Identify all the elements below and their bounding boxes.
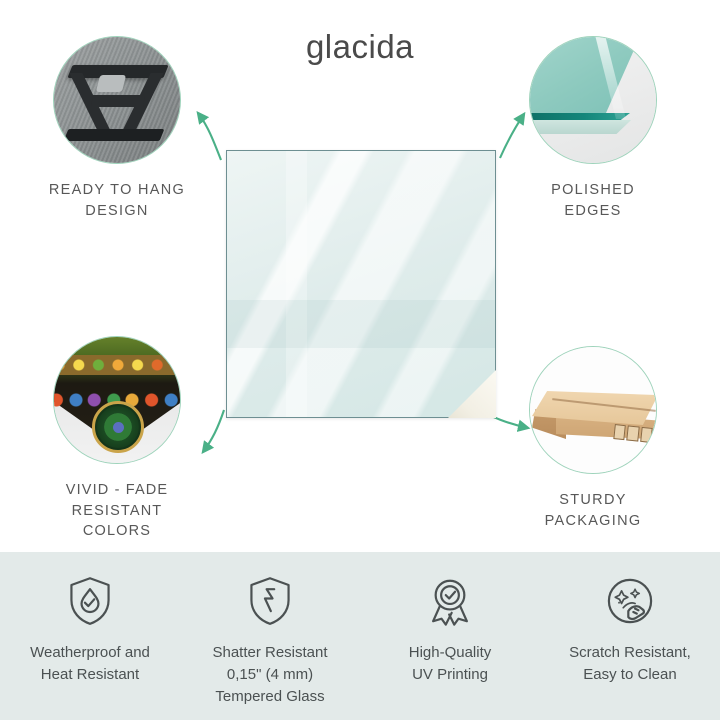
feature-scratch-resistant: Scratch Resistant, Easy to Clean (540, 552, 720, 720)
glass-peeled-corner (448, 370, 496, 418)
glass-panel (226, 150, 496, 418)
mosaic-medallion (92, 401, 144, 453)
callout-caption: READY TO HANG DESIGN (22, 180, 212, 221)
callout-caption: STURDY PACKAGING (498, 490, 688, 531)
feature-uv-printing: High-Quality UV Printing (360, 552, 540, 720)
callout-vivid-colors: VIVID - FADE RESISTANT COLORS (22, 336, 212, 542)
feature-label: Scratch Resistant, Easy to Clean (569, 642, 691, 686)
bracket-slot (96, 75, 126, 92)
callout-caption: VIVID - FADE RESISTANT COLORS (22, 480, 212, 542)
callout-sturdy-packaging: STURDY PACKAGING (498, 346, 688, 531)
feature-shatter-resistant: Shatter Resistant 0,15" (4 mm) Tempered … (180, 552, 360, 720)
sparkle-wipe-hand-icon (603, 574, 657, 628)
feature-strip: Weatherproof and Heat Resistant Shatter … (0, 552, 720, 720)
product-infographic: glacida READY TO HANG DESIGN (0, 0, 720, 720)
callout-image-mosaic-art (53, 336, 181, 464)
shield-bolt-icon (243, 574, 297, 628)
feature-weatherproof: Weatherproof and Heat Resistant (0, 552, 180, 720)
feature-label: Weatherproof and Heat Resistant (30, 642, 150, 686)
mosaic-stripe-upper (53, 355, 181, 375)
award-ribbon-check-icon (423, 574, 477, 628)
shield-droplet-check-icon (63, 574, 117, 628)
bracket-base-plate (64, 129, 165, 141)
callout-caption: POLISHED EDGES (498, 180, 688, 221)
feature-label: High-Quality UV Printing (409, 642, 492, 686)
bracket-middle-bar (91, 95, 145, 107)
callout-image-glass-edge (529, 36, 657, 164)
glass-highlight-horizontal (227, 300, 495, 348)
callout-polished-edges: POLISHED EDGES (498, 36, 688, 221)
glass-highlight-vertical (286, 151, 307, 417)
callout-ready-to-hang: READY TO HANG DESIGN (22, 36, 212, 221)
feature-label: Shatter Resistant 0,15" (4 mm) Tempered … (212, 642, 327, 709)
callout-image-cardboard-box (529, 346, 657, 474)
callout-image-hanging-bracket (53, 36, 181, 164)
